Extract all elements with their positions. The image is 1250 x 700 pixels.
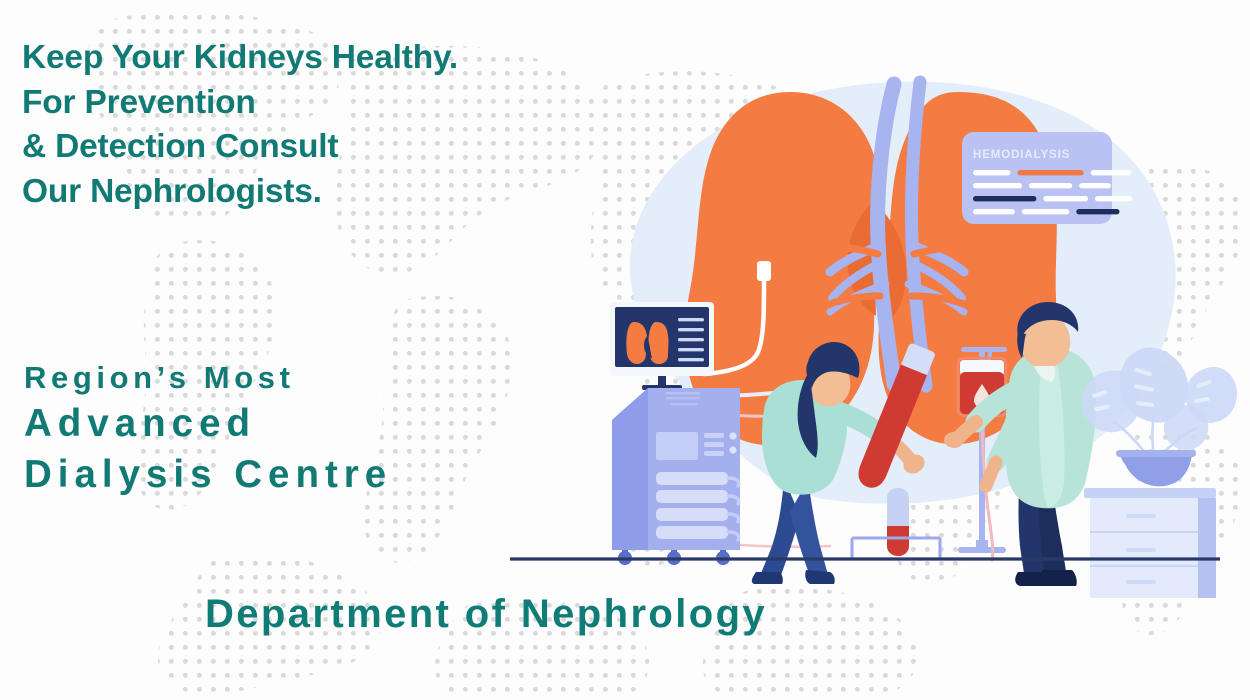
hemodialysis-bar-4-3 [1076, 209, 1119, 214]
hemodialysis-bar-1-3 [1091, 170, 1131, 175]
hemodialysis-bar-1-2 [1017, 170, 1083, 175]
hemodialysis-bar-3-1 [973, 196, 1036, 201]
subheadline-line-3: Dialysis Centre [24, 450, 544, 501]
headline-line-4: Our Nephrologists. [22, 170, 492, 215]
hemodialysis-bar-2-3 [1079, 183, 1111, 188]
headline-line-2: For Prevention [22, 81, 492, 126]
nephrology-banner: HEMODIALYSIS [0, 0, 1250, 700]
hemodialysis-bar-1-1 [973, 170, 1010, 175]
subheadline-line-1: Region’s Most [24, 358, 544, 399]
hemodialysis-card[interactable]: HEMODIALYSIS [962, 132, 1132, 224]
headline-line-3: & Detection Consult [22, 125, 492, 170]
hemodialysis-bar-2-2 [1029, 183, 1072, 188]
hemodialysis-bar-4-2 [1022, 209, 1070, 214]
hemodialysis-card-title: HEMODIALYSIS [973, 149, 1070, 161]
hemodialysis-bar-2-1 [973, 183, 1022, 188]
dialysis-scene-illustration: HEMODIALYSIS [490, 40, 1250, 600]
headline-block: Keep Your Kidneys Healthy. For Preventio… [22, 36, 492, 214]
department-label: Department of Nephrology [205, 592, 1105, 637]
dialysis-machine[interactable] [612, 388, 740, 565]
headline-line-1: Keep Your Kidneys Healthy. [22, 36, 492, 81]
hemodialysis-bar-3-3 [1095, 196, 1132, 201]
hemodialysis-bar-3-2 [1043, 196, 1088, 201]
hemodialysis-bar-4-1 [973, 209, 1015, 214]
subheadline-block: Region’s Most Advanced Dialysis Centre [24, 358, 544, 501]
subheadline-line-2: Advanced [24, 399, 544, 450]
